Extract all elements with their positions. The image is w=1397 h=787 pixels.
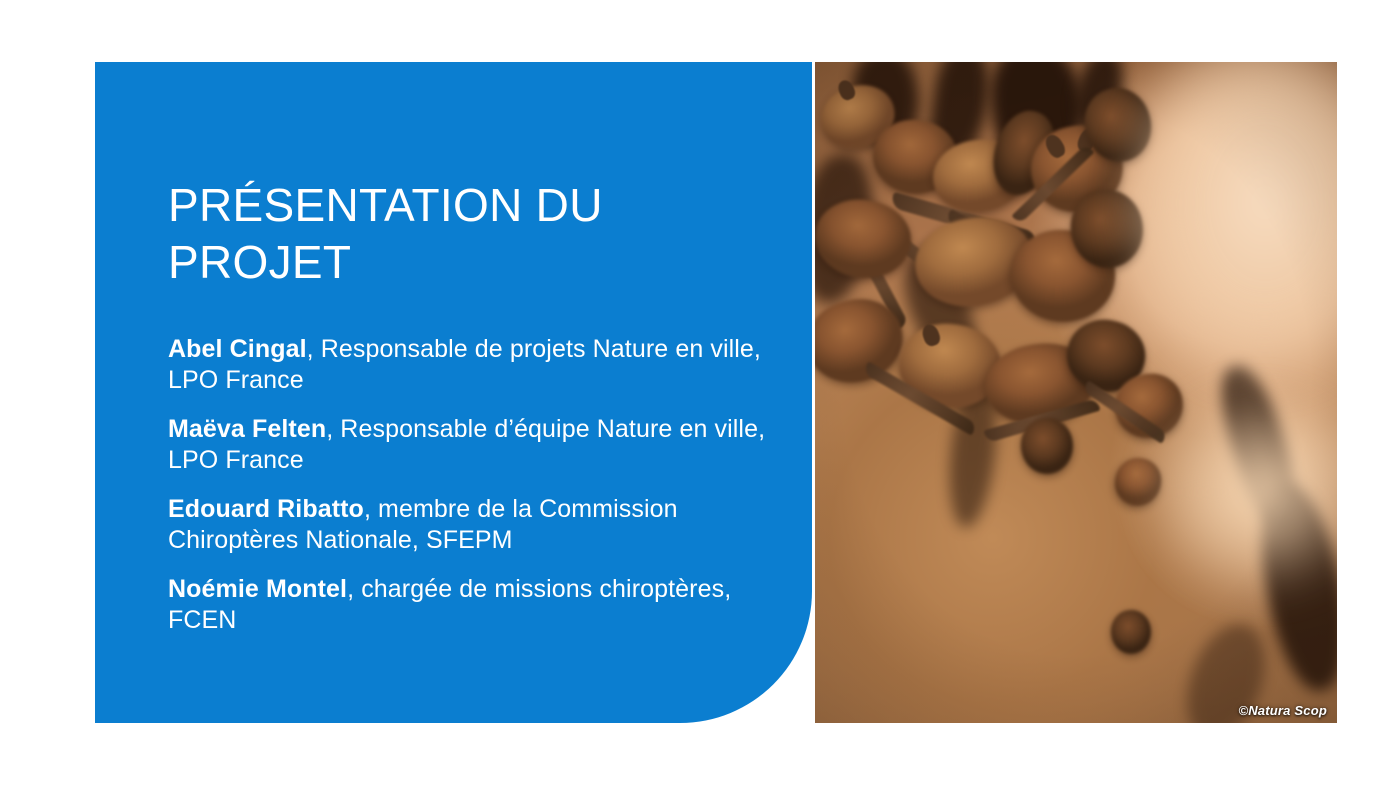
photo-foreground-blur [1145, 362, 1337, 622]
slide-canvas: PRÉSENTATION DU PROJET Abel Cingal, Resp… [0, 0, 1397, 787]
list-item: Abel Cingal, Responsable de projets Natu… [168, 334, 768, 396]
bat-colony-photo: ©Natura Scop [815, 62, 1337, 723]
list-item: Noémie Montel, chargée de missions chiro… [168, 574, 768, 636]
page-title: PRÉSENTATION DU PROJET [168, 177, 728, 291]
person-name: Noémie Montel [168, 575, 347, 603]
blue-content-panel: PRÉSENTATION DU PROJET Abel Cingal, Resp… [95, 62, 812, 723]
person-name: Edouard Ribatto [168, 495, 364, 523]
person-name: Maëva Felten [168, 415, 326, 443]
person-name: Abel Cingal [168, 335, 307, 363]
speakers-list: Abel Cingal, Responsable de projets Natu… [168, 334, 768, 636]
photo-credit: ©Natura Scop [1238, 703, 1327, 718]
list-item: Edouard Ribatto, membre de la Commission… [168, 494, 768, 556]
list-item: Maëva Felten, Responsable d’équipe Natur… [168, 414, 768, 476]
